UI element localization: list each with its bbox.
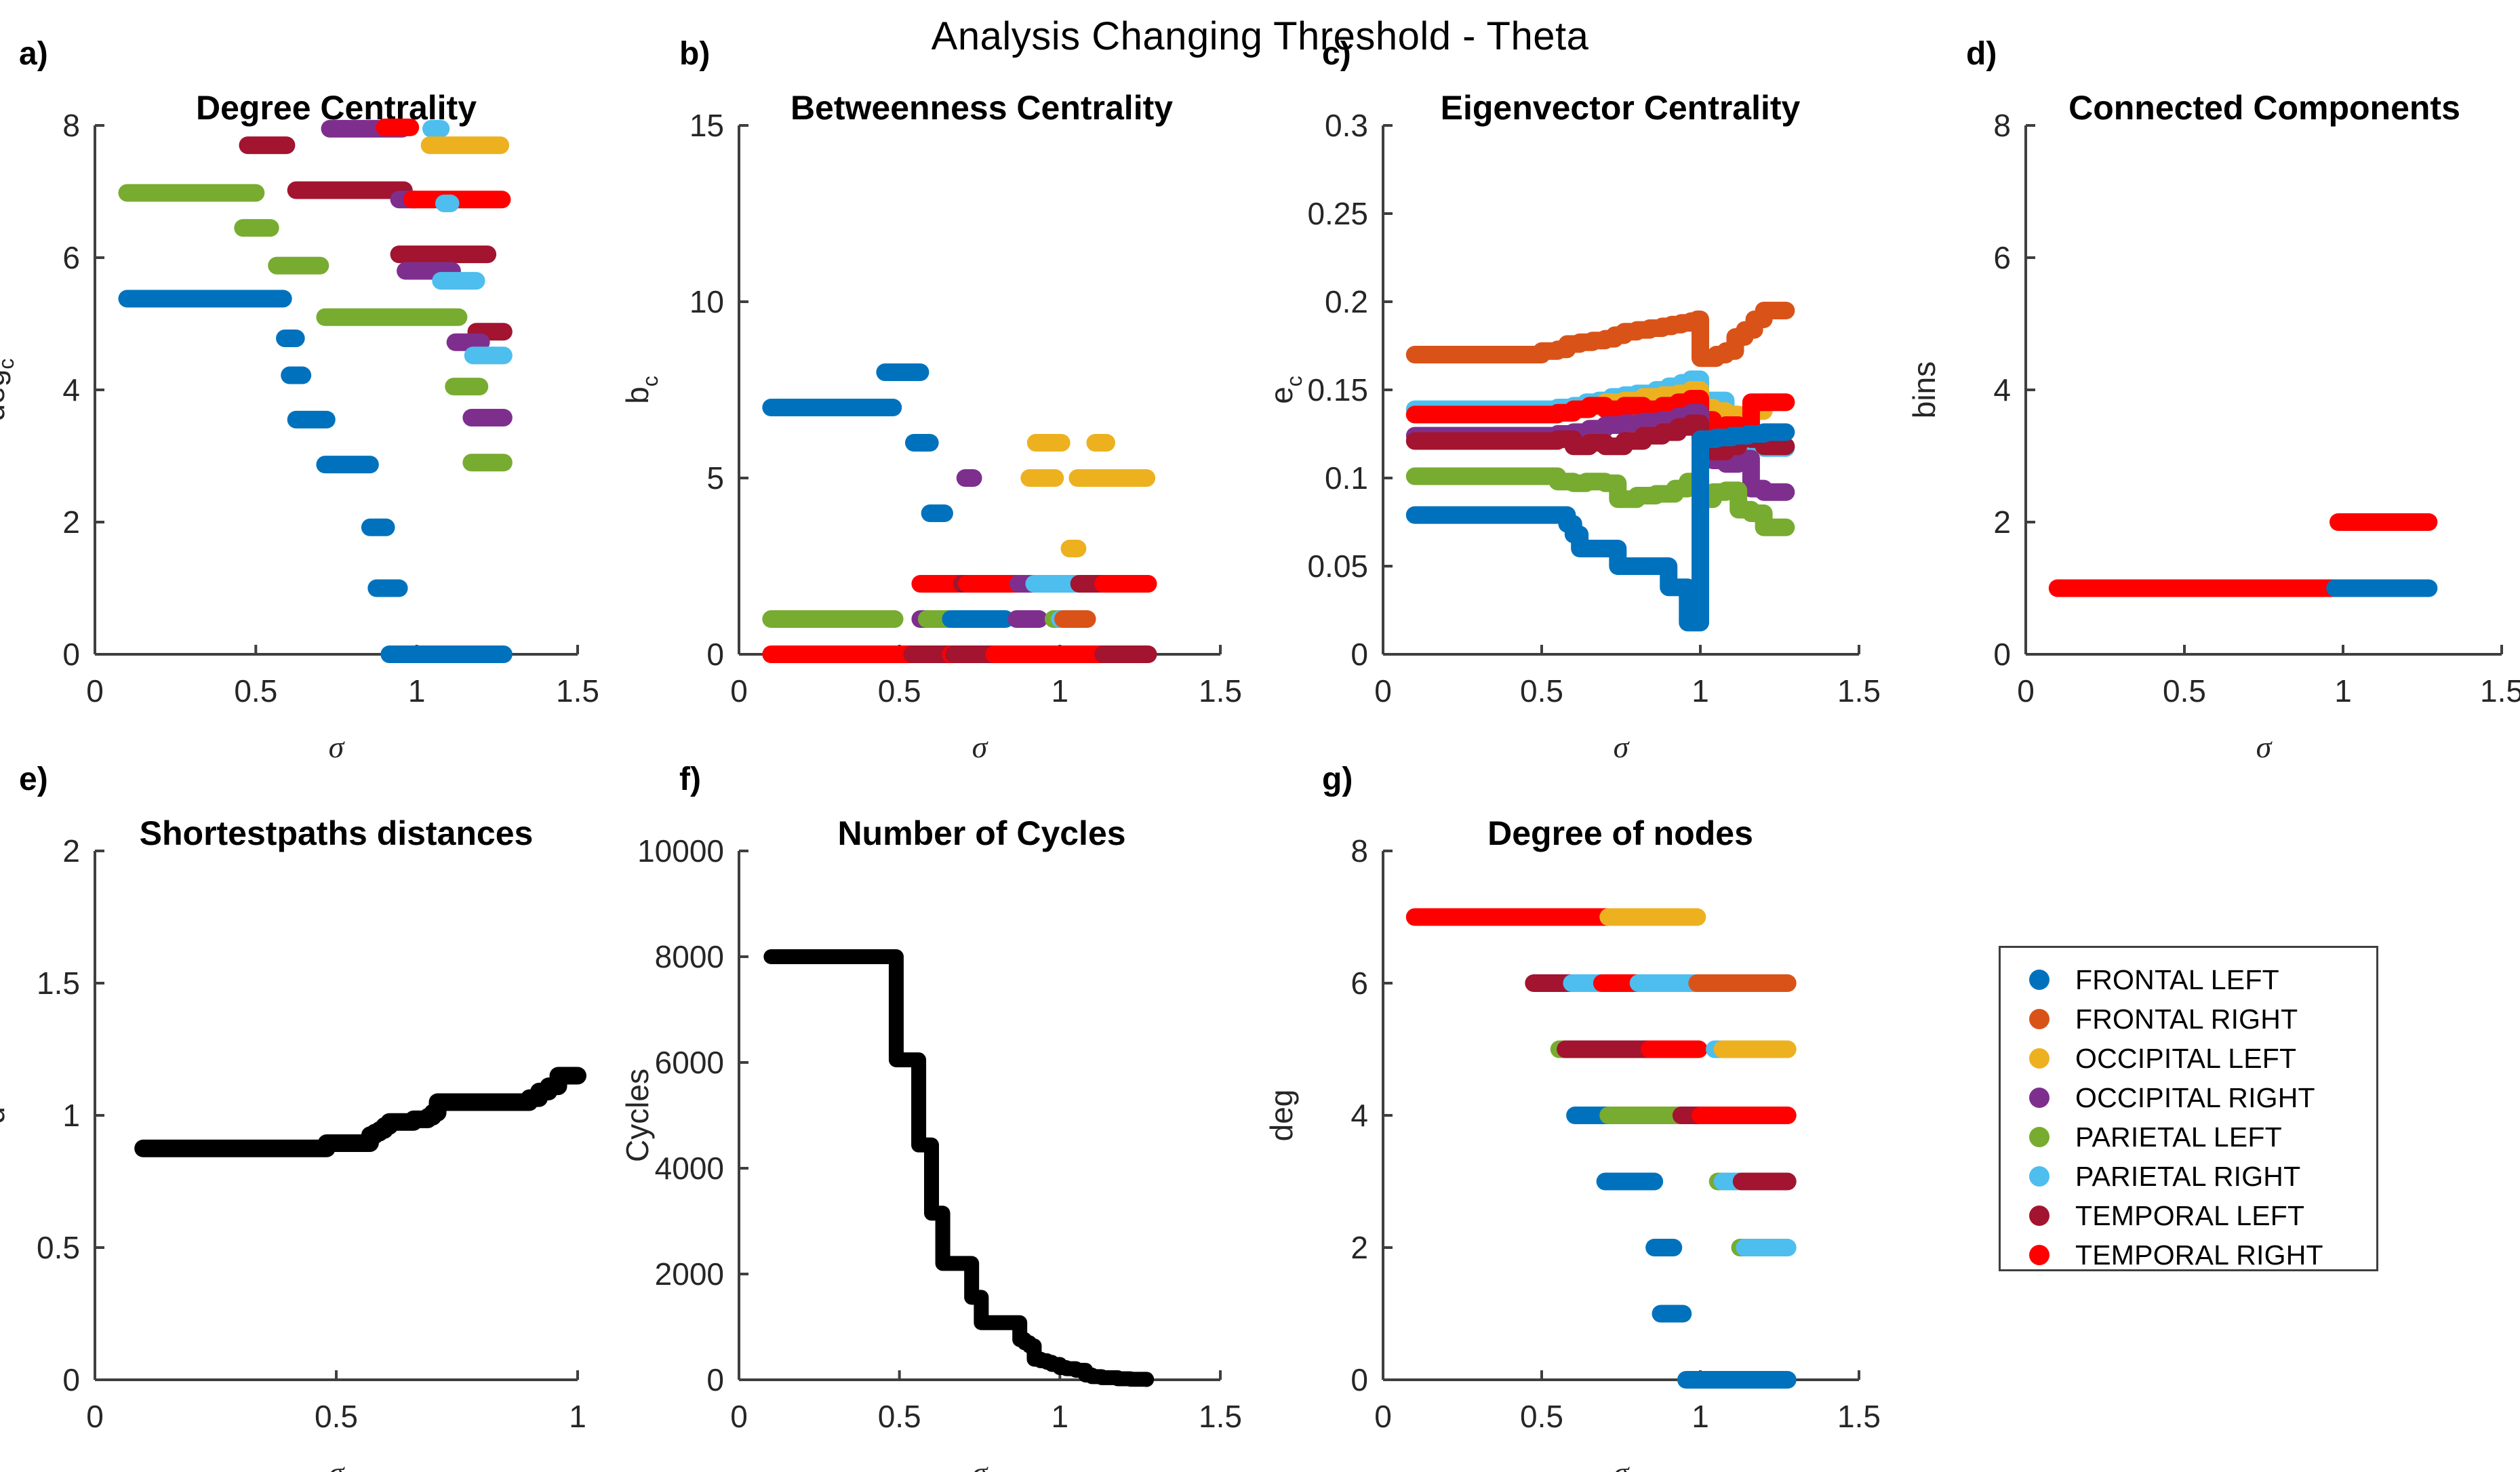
svg-text:bc: bc	[620, 376, 662, 404]
legend-label: TEMPORAL RIGHT	[2075, 1239, 2323, 1271]
svg-text:6: 6	[62, 240, 80, 275]
svg-text:0.5: 0.5	[2163, 673, 2206, 709]
svg-text:0: 0	[62, 637, 80, 672]
svg-text:σ: σ	[972, 730, 989, 764]
svg-text:1: 1	[1052, 673, 1069, 709]
svg-text:2: 2	[1351, 1230, 1368, 1265]
legend-label: PARIETAL LEFT	[2075, 1121, 2282, 1153]
svg-text:d: d	[0, 1107, 11, 1124]
legend-marker-icon	[2029, 1206, 2049, 1226]
svg-text:1: 1	[2334, 673, 2352, 709]
svg-text:1.5: 1.5	[1199, 673, 1242, 709]
legend-item-parietal-right[interactable]: PARIETAL RIGHT	[2001, 1157, 2376, 1196]
svg-text:1.5: 1.5	[2480, 673, 2520, 709]
svg-text:0: 0	[706, 1362, 724, 1397]
svg-text:σ: σ	[972, 1455, 989, 1472]
svg-text:6: 6	[1351, 966, 1368, 1001]
panel-letter-a: a)	[19, 35, 48, 73]
svg-text:4000: 4000	[655, 1151, 724, 1186]
svg-text:0.5: 0.5	[878, 673, 921, 709]
svg-text:0: 0	[730, 1399, 748, 1434]
svg-text:deg: deg	[1264, 1090, 1299, 1142]
svg-text:2000: 2000	[655, 1256, 724, 1292]
svg-text:ec: ec	[1264, 376, 1306, 404]
svg-text:1.5: 1.5	[1837, 673, 1881, 709]
svg-text:1.5: 1.5	[37, 966, 80, 1001]
svg-text:0.5: 0.5	[1520, 673, 1563, 709]
legend-label: OCCIPITAL RIGHT	[2075, 1082, 2315, 1114]
svg-text:1: 1	[408, 673, 426, 709]
svg-text:4: 4	[1351, 1098, 1368, 1133]
legend-item-parietal-left[interactable]: PARIETAL LEFT	[2001, 1117, 2376, 1157]
svg-text:0: 0	[730, 673, 748, 709]
svg-text:0.5: 0.5	[315, 1399, 358, 1434]
panel-title-c: Eigenvector Centrality	[1281, 88, 1959, 127]
svg-text:6000: 6000	[655, 1045, 724, 1080]
legend-label: FRONTAL RIGHT	[2075, 1003, 2298, 1035]
legend-item-temporal-right[interactable]: TEMPORAL RIGHT	[2001, 1235, 2376, 1275]
svg-text:0.05: 0.05	[1307, 549, 1368, 584]
svg-text:σ: σ	[1614, 730, 1631, 764]
svg-text:bins: bins	[1906, 361, 1942, 418]
svg-text:10: 10	[689, 284, 724, 319]
legend-label: OCCIPITAL LEFT	[2075, 1043, 2296, 1075]
legend-marker-icon	[2029, 1048, 2049, 1069]
panel-title-g: Degree of nodes	[1281, 814, 1959, 853]
legend-label: TEMPORAL LEFT	[2075, 1200, 2304, 1232]
panel-title-f: Number of Cycles	[643, 814, 1321, 853]
legend-marker-icon	[2029, 1088, 2049, 1108]
svg-text:4: 4	[1993, 372, 2011, 407]
svg-text:4: 4	[62, 372, 80, 407]
svg-text:0: 0	[1351, 637, 1368, 672]
panel-letter-g: g)	[1322, 761, 1353, 798]
svg-text:1: 1	[62, 1098, 80, 1133]
legend-marker-icon	[2029, 1166, 2049, 1187]
svg-text:1: 1	[1052, 1399, 1069, 1434]
svg-text:0.5: 0.5	[37, 1230, 80, 1265]
legend-item-frontal-right[interactable]: FRONTAL RIGHT	[2001, 999, 2376, 1039]
panel-title-d: Connected Components	[1925, 88, 2520, 127]
svg-text:σ: σ	[329, 1455, 346, 1472]
svg-text:0: 0	[86, 1399, 104, 1434]
svg-text:σ: σ	[1614, 1455, 1631, 1472]
svg-text:1: 1	[1692, 673, 1709, 709]
svg-text:0.25: 0.25	[1307, 196, 1368, 231]
svg-text:1.5: 1.5	[556, 673, 599, 709]
legend-item-frontal-left[interactable]: FRONTAL LEFT	[2001, 960, 2376, 999]
svg-text:0: 0	[1993, 637, 2011, 672]
panel-letter-c: c)	[1322, 35, 1351, 73]
svg-text:0.1: 0.1	[1325, 460, 1368, 496]
panel-letter-d: d)	[1966, 35, 1997, 73]
legend-marker-icon	[2029, 1009, 2049, 1029]
svg-text:6: 6	[1993, 240, 2011, 275]
svg-text:σ: σ	[2256, 730, 2273, 764]
panel-letter-e: e)	[19, 761, 48, 798]
svg-text:0: 0	[1374, 673, 1392, 709]
panel-title-a: Degree Centrality	[0, 88, 675, 127]
legend-item-occipital-left[interactable]: OCCIPITAL LEFT	[2001, 1039, 2376, 1078]
svg-text:1.5: 1.5	[1199, 1399, 1242, 1434]
svg-text:0.5: 0.5	[878, 1399, 921, 1434]
panel-letter-b: b)	[679, 35, 710, 73]
svg-text:0.2: 0.2	[1325, 284, 1368, 319]
legend-label: FRONTAL LEFT	[2075, 964, 2279, 996]
svg-text:5: 5	[706, 460, 724, 496]
panel-letter-f: f)	[679, 761, 701, 798]
svg-text:0.5: 0.5	[1520, 1399, 1563, 1434]
legend-item-temporal-left[interactable]: TEMPORAL LEFT	[2001, 1196, 2376, 1235]
svg-text:degc: degc	[0, 359, 18, 422]
legend: FRONTAL LEFTFRONTAL RIGHTOCCIPITAL LEFTO…	[1999, 946, 2378, 1271]
legend-marker-icon	[2029, 1245, 2049, 1265]
svg-text:2: 2	[1993, 504, 2011, 540]
legend-marker-icon	[2029, 1127, 2049, 1147]
svg-text:0: 0	[1374, 1399, 1392, 1434]
svg-text:0: 0	[706, 637, 724, 672]
svg-text:1: 1	[1692, 1399, 1709, 1434]
svg-text:0: 0	[62, 1362, 80, 1397]
legend-label: PARIETAL RIGHT	[2075, 1161, 2300, 1193]
svg-text:0: 0	[86, 673, 104, 709]
panel-title-b: Betweenness Centrality	[643, 88, 1321, 127]
svg-text:0.15: 0.15	[1307, 372, 1368, 407]
panel-title-e: Shortestpaths distances	[0, 814, 675, 853]
figure-title: Analysis Changing Threshold - Theta	[0, 14, 2520, 59]
svg-text:1.5: 1.5	[1837, 1399, 1881, 1434]
legend-item-occipital-right[interactable]: OCCIPITAL RIGHT	[2001, 1078, 2376, 1117]
svg-text:0.5: 0.5	[234, 673, 277, 709]
svg-text:Cycles: Cycles	[620, 1069, 655, 1162]
svg-text:1: 1	[569, 1399, 586, 1434]
svg-text:σ: σ	[329, 730, 346, 764]
legend-marker-icon	[2029, 970, 2049, 990]
svg-text:0: 0	[1351, 1362, 1368, 1397]
svg-text:2: 2	[62, 504, 80, 540]
svg-text:8000: 8000	[655, 939, 724, 974]
svg-text:0: 0	[2017, 673, 2035, 709]
